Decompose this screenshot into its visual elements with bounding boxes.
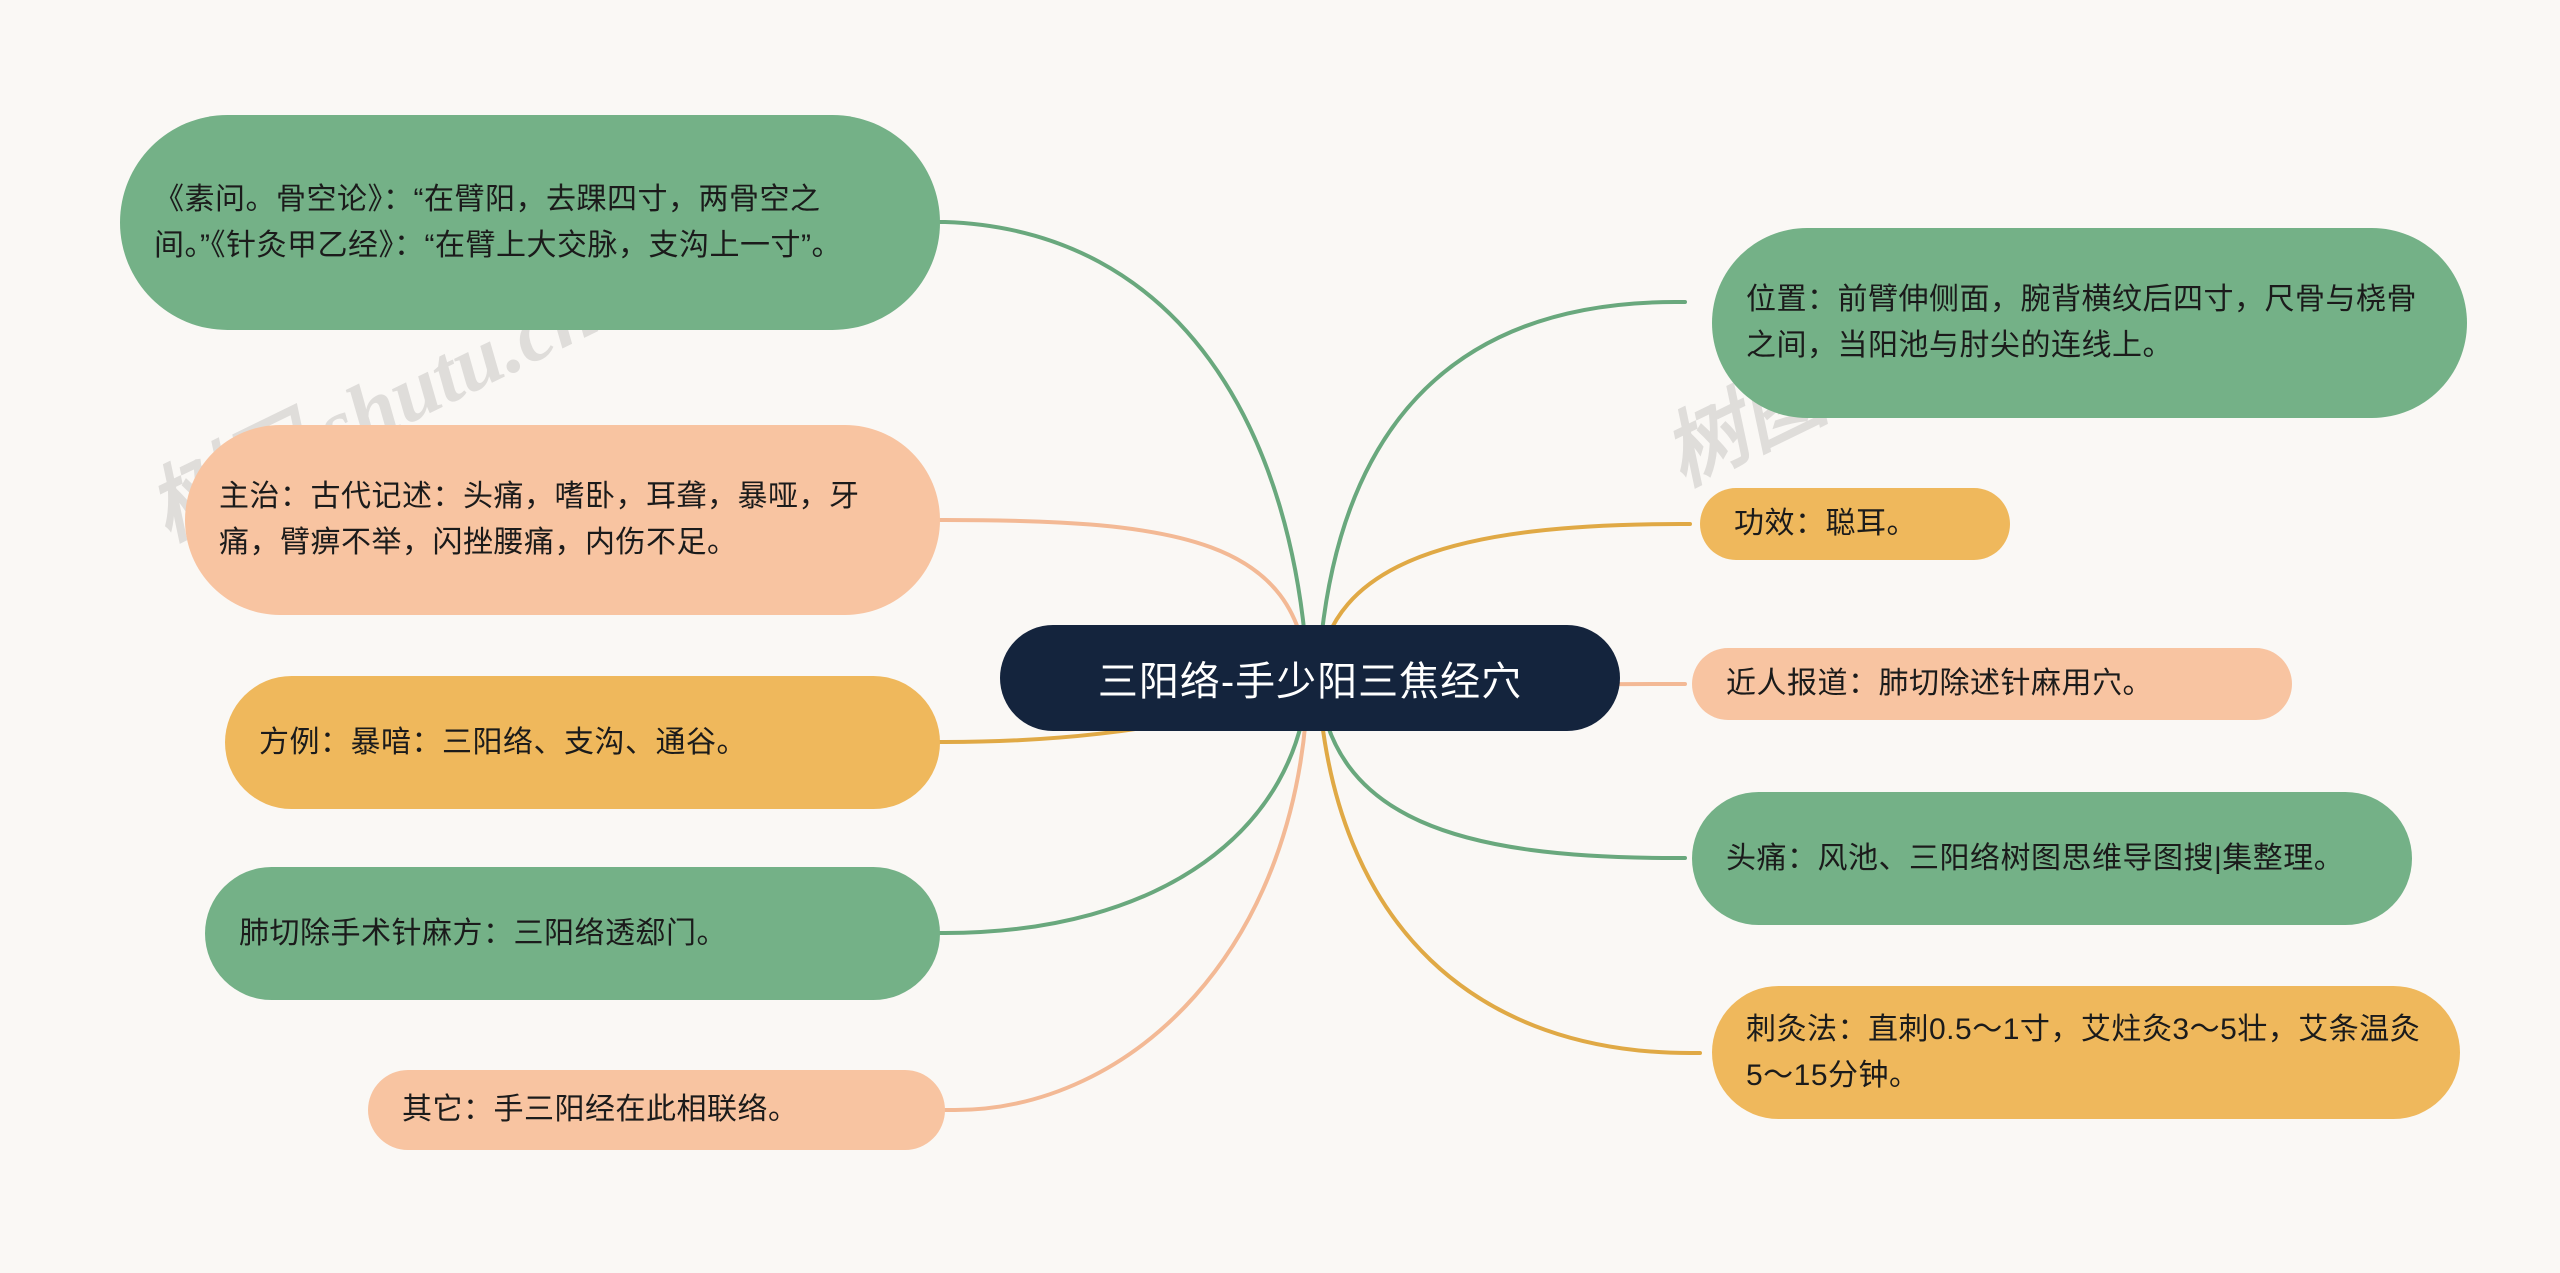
connector-left-classic-citation	[935, 222, 1308, 678]
center-node[interactable]: 三阳络-手少阳三焦经穴	[1000, 625, 1620, 731]
connector-right-location	[1318, 302, 1685, 678]
node-indications-label: 主治：古代记述：头痛，嗜卧，耳聋，暴哑，牙痛，臂痹不举，闪挫腰痛，内伤不足。	[219, 474, 906, 565]
mindmap-canvas: 树图 shutu.cn 树图 shutu.cn 《素问。骨空论》：“在臂阳，去踝…	[0, 0, 2560, 1273]
node-location-label: 位置：前臂伸侧面，腕背横纹后四寸，尺骨与桡骨之间，当阳池与肘尖的连线上。	[1746, 277, 2433, 368]
node-lung-resection-anesthesia[interactable]: 肺切除手术针麻方：三阳络透郄门。	[205, 867, 940, 1000]
node-effect[interactable]: 功效：聪耳。	[1700, 488, 2010, 560]
node-prescription-example-label: 方例：暴喑：三阳络、支沟、通谷。	[259, 720, 906, 766]
node-needling-moxibustion[interactable]: 刺灸法：直刺0.5～1寸，艾炷灸3～5壮，艾条温灸5～15分钟。	[1712, 986, 2460, 1119]
node-prescription-example[interactable]: 方例：暴喑：三阳络、支沟、通谷。	[225, 676, 940, 809]
node-other-label: 其它：手三阳经在此相联络。	[402, 1087, 911, 1133]
center-node-label: 三阳络-手少阳三焦经穴	[1098, 649, 1522, 707]
node-effect-label: 功效：聪耳。	[1734, 501, 1976, 547]
node-headache[interactable]: 头痛：风池、三阳络树图思维导图搜|集整理。	[1692, 792, 2412, 925]
node-needling-moxibustion-label: 刺灸法：直刺0.5～1寸，艾炷灸3～5壮，艾条温灸5～15分钟。	[1746, 1007, 2426, 1098]
node-indications[interactable]: 主治：古代记述：头痛，嗜卧，耳聋，暴哑，牙痛，臂痹不举，闪挫腰痛，内伤不足。	[185, 425, 940, 615]
node-location[interactable]: 位置：前臂伸侧面，腕背横纹后四寸，尺骨与桡骨之间，当阳池与肘尖的连线上。	[1712, 228, 2467, 418]
node-classic-citation-label: 《素问。骨空论》：“在臂阳，去踝四寸，两骨空之间。”《针灸甲乙经》：“在臂上大交…	[154, 177, 906, 268]
connector-right-needling-moxibustion	[1318, 678, 1700, 1053]
node-headache-label: 头痛：风池、三阳络树图思维导图搜|集整理。	[1726, 836, 2378, 882]
node-lung-resection-anesthesia-label: 肺切除手术针麻方：三阳络透郄门。	[239, 911, 906, 957]
node-classic-citation[interactable]: 《素问。骨空论》：“在臂阳，去踝四寸，两骨空之间。”《针灸甲乙经》：“在臂上大交…	[120, 115, 940, 330]
node-modern-report[interactable]: 近人报道：肺切除述针麻用穴。	[1692, 648, 2292, 720]
node-other[interactable]: 其它：手三阳经在此相联络。	[368, 1070, 945, 1150]
node-modern-report-label: 近人报道：肺切除述针麻用穴。	[1726, 661, 2258, 707]
